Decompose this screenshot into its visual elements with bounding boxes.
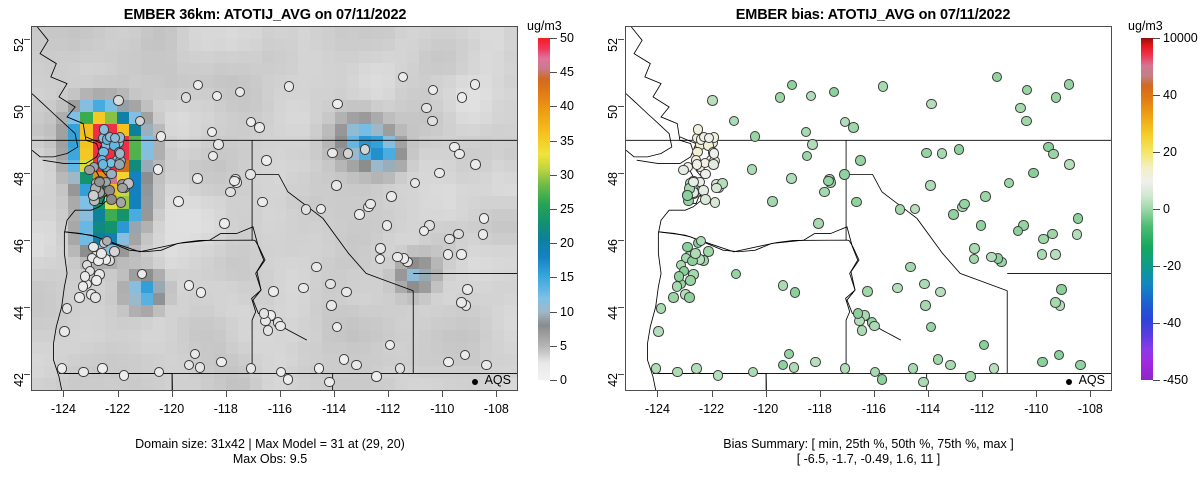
station-marker: [213, 139, 224, 150]
station-marker: [59, 326, 70, 337]
aqs-legend-label: AQS: [1079, 373, 1105, 387]
colorbar-tick-label: 45: [560, 65, 574, 79]
station-marker: [314, 363, 325, 374]
station-marker: [88, 190, 99, 201]
panel-model: EMBER 36km: ATOTIJ_AVG on 07/11/2022 AQS…: [0, 0, 600, 479]
raster-cell: [80, 390, 93, 391]
colorbar-tick: [550, 141, 557, 142]
x-axis-tick: [280, 391, 281, 397]
colorbar-tick: [1153, 152, 1160, 153]
station-marker: [829, 87, 840, 98]
station-marker: [908, 363, 919, 374]
station-marker: [691, 363, 702, 374]
station-marker: [117, 183, 128, 194]
station-marker: [78, 367, 89, 378]
colorbar-unit-model: ug/m3: [527, 19, 562, 33]
colorbar-tick-label: 30: [560, 168, 574, 182]
station-marker: [102, 236, 113, 247]
x-axis-tick: [820, 391, 821, 397]
station-marker: [878, 81, 889, 92]
map-plot-model[interactable]: AQS: [31, 26, 518, 391]
colorbar-tick: [1153, 323, 1160, 324]
station-marker: [708, 159, 719, 170]
x-axis-label: -114: [916, 402, 940, 416]
station-marker: [976, 220, 987, 231]
colorbar-tick: [1153, 95, 1160, 96]
station-marker: [933, 354, 944, 365]
raster-cell: [286, 390, 299, 391]
station-marker: [114, 159, 125, 170]
station-marker: [989, 363, 1000, 374]
station-marker: [116, 197, 127, 208]
station-marker: [325, 279, 336, 290]
station-marker: [443, 357, 454, 368]
station-marker: [1064, 159, 1075, 170]
raster-cell: [310, 390, 323, 391]
colorbar-tick-label: -450: [1163, 373, 1188, 387]
station-marker: [1047, 229, 1058, 240]
station-marker: [801, 127, 812, 138]
panel-title-model: EMBER 36km: ATOTIJ_AVG on 07/11/2022: [0, 7, 530, 23]
station-marker: [245, 169, 256, 180]
station-marker: [456, 297, 467, 308]
raster-cell: [298, 390, 311, 391]
station-marker: [311, 262, 322, 273]
station-marker: [920, 300, 931, 311]
station-marker: [434, 168, 445, 179]
caption-line-2: [ -6.5, -1.7, -0.49, 1.6, 11 ]: [625, 452, 1112, 467]
station-marker: [192, 173, 203, 184]
station-marker: [1037, 249, 1048, 260]
station-marker: [457, 92, 468, 103]
x-axis-tick: [982, 391, 983, 397]
station-marker: [784, 349, 795, 360]
station-marker: [257, 197, 268, 208]
aqs-dot-icon: [1066, 379, 1072, 385]
raster-cell: [153, 390, 166, 391]
station-marker: [283, 374, 294, 385]
station-marker: [786, 173, 797, 184]
y-axis-label: 44: [606, 306, 620, 324]
station-marker: [62, 303, 73, 314]
station-marker: [704, 133, 715, 144]
station-marker: [969, 254, 980, 265]
station-marker: [275, 321, 286, 332]
station-marker: [684, 292, 695, 303]
station-marker: [316, 204, 327, 215]
raster-cell: [516, 390, 518, 391]
x-axis-tick: [1090, 391, 1091, 397]
station-marker: [813, 218, 824, 229]
raster-cell: [262, 390, 275, 391]
station-marker: [980, 191, 991, 202]
raster-cell: [129, 390, 142, 391]
station-marker: [354, 209, 365, 220]
station-marker: [173, 196, 184, 207]
station-marker: [331, 180, 342, 191]
colorbar-unit-bias: ug/m3: [1128, 19, 1163, 33]
station-marker: [707, 95, 718, 106]
station-marker: [392, 252, 403, 263]
station-marker: [775, 92, 786, 103]
x-axis-tick: [172, 391, 173, 397]
raster-cell: [189, 390, 202, 391]
colorbar-tick: [550, 209, 557, 210]
station-marker: [1050, 297, 1061, 308]
colorbar-tick: [550, 277, 557, 278]
station-marker: [324, 377, 335, 388]
station-marker: [1054, 350, 1065, 361]
station-marker: [729, 116, 740, 127]
station-marker: [945, 360, 956, 371]
station-marker: [869, 321, 880, 332]
station-marker: [948, 209, 959, 220]
station-marker: [935, 287, 946, 298]
station-marker: [877, 374, 888, 385]
raster-cell: [335, 390, 348, 391]
y-axis-label: 46: [12, 239, 26, 257]
station-marker: [969, 243, 980, 254]
y-axis-label: 52: [12, 38, 26, 56]
station-marker: [78, 281, 89, 292]
raster-cell: [177, 390, 190, 391]
station-marker: [94, 177, 105, 188]
raster-cell: [419, 390, 432, 391]
station-marker: [184, 280, 195, 291]
station-marker: [1022, 85, 1033, 96]
station-marker: [750, 131, 761, 142]
x-axis-label: -110: [430, 402, 454, 416]
station-marker: [668, 292, 679, 303]
station-marker: [851, 197, 862, 208]
station-marker: [428, 85, 439, 96]
raster-cell: [347, 390, 360, 391]
station-marker: [190, 349, 201, 360]
panel-title-bias: EMBER bias: ATOTIJ_AVG on 07/11/2022: [608, 7, 1138, 23]
station-marker: [259, 308, 270, 319]
station-marker: [918, 377, 929, 388]
station-marker: [385, 340, 396, 351]
station-marker: [790, 287, 801, 298]
station-marker: [106, 194, 117, 205]
station-marker: [478, 229, 489, 240]
station-marker: [839, 169, 850, 180]
station-marker: [398, 72, 409, 83]
x-axis-tick: [874, 391, 875, 397]
station-marker: [937, 148, 948, 159]
station-marker: [926, 99, 937, 110]
station-marker: [154, 367, 165, 378]
station-marker: [959, 199, 970, 210]
x-axis-label: -110: [1024, 402, 1048, 416]
colorbar-tick-label: 0: [560, 373, 567, 387]
raster-cell: [407, 390, 420, 391]
station-markers-bias: [626, 27, 1111, 390]
x-axis-label: -108: [484, 402, 509, 416]
x-axis-label: -122: [105, 402, 130, 416]
station-marker: [656, 303, 667, 314]
station-marker: [84, 165, 95, 176]
x-axis-label: -122: [699, 402, 724, 416]
colorbar-tick: [550, 106, 557, 107]
x-axis-tick: [657, 391, 658, 397]
station-marker: [921, 148, 932, 159]
station-marker: [855, 155, 866, 166]
raster-cell: [141, 390, 154, 391]
raster-cell: [226, 390, 239, 391]
colorbar-tick: [550, 175, 557, 176]
colorbar-tick-label: 50: [560, 31, 574, 45]
raster-cell: [68, 390, 81, 391]
aqs-dot-icon: [472, 379, 478, 385]
colorbar-tick-label: 25: [560, 202, 574, 216]
station-marker: [1013, 226, 1024, 237]
station-marker: [326, 300, 337, 311]
station-marker: [375, 243, 386, 254]
station-marker: [778, 280, 789, 291]
station-marker: [462, 284, 473, 295]
station-marker: [862, 286, 873, 297]
station-marker: [1064, 79, 1075, 90]
x-axis-label: -124: [645, 402, 670, 416]
station-marker: [410, 178, 421, 189]
station-marker: [690, 248, 701, 259]
colorbar-tick: [1153, 209, 1160, 210]
station-marker: [196, 287, 207, 298]
station-marker: [382, 220, 393, 231]
station-marker: [1056, 284, 1067, 295]
station-marker: [992, 72, 1003, 83]
raster-cell: [117, 390, 130, 391]
colorbar-tick-label: -20: [1163, 259, 1181, 273]
colorbar-tick-label: 0: [1163, 202, 1170, 216]
raster-cell: [32, 390, 45, 391]
station-marker: [810, 357, 821, 368]
colorbar-tick-label: -40: [1163, 316, 1181, 330]
colorbar-tick: [550, 346, 557, 347]
raster-cell: [105, 390, 118, 391]
x-axis-label: -116: [268, 402, 292, 416]
colorbar-tick-label: 40: [560, 99, 574, 113]
x-axis-tick: [1036, 391, 1037, 397]
x-axis-label: -116: [862, 402, 886, 416]
station-marker: [767, 196, 778, 207]
station-marker: [700, 194, 711, 205]
colorbar-tick: [1153, 38, 1160, 39]
station-marker: [653, 326, 664, 337]
aqs-legend-model: AQS: [485, 373, 511, 387]
station-marker: [1050, 249, 1061, 260]
station-marker: [207, 127, 218, 138]
station-marker: [386, 191, 397, 202]
station-marker: [235, 87, 246, 98]
station-marker: [1073, 213, 1084, 224]
station-marker: [135, 116, 146, 127]
raster-cell: [456, 390, 469, 391]
colorbar-tick-label: 40: [1163, 88, 1177, 102]
x-axis-label: -112: [376, 402, 400, 416]
x-axis-label: -120: [753, 402, 778, 416]
station-marker: [470, 79, 481, 90]
station-marker: [919, 279, 930, 290]
station-marker: [823, 176, 834, 187]
station-marker: [91, 275, 102, 286]
station-marker: [195, 362, 206, 373]
station-marker: [263, 325, 274, 336]
station-marker: [80, 271, 91, 282]
colorbar-tick: [550, 380, 557, 381]
aqs-legend-label: AQS: [485, 373, 511, 387]
station-marker: [254, 122, 265, 133]
y-axis-label: 42: [606, 373, 620, 391]
y-axis-label: 52: [606, 38, 620, 56]
x-axis-label: -114: [322, 402, 346, 416]
station-marker: [339, 354, 350, 365]
station-marker: [954, 144, 965, 155]
station-marker: [672, 281, 683, 292]
station-marker: [685, 275, 696, 286]
station-marker: [284, 81, 295, 92]
station-marker: [115, 148, 126, 159]
station-marker: [696, 236, 707, 247]
station-marker: [710, 197, 721, 208]
colorbar-tick: [1153, 266, 1160, 267]
station-marker: [365, 199, 376, 210]
station-marker: [229, 176, 240, 187]
station-marker: [119, 370, 130, 381]
colorbar-tick: [550, 312, 557, 313]
colorbar-tick: [550, 243, 557, 244]
station-marker: [298, 283, 309, 294]
x-axis-tick: [334, 391, 335, 397]
station-marker: [481, 360, 492, 371]
station-marker: [332, 322, 343, 333]
station-marker: [208, 151, 219, 162]
x-axis-label: -112: [970, 402, 994, 416]
colorbar-tick-label: 20: [1163, 145, 1177, 159]
station-marker: [453, 229, 464, 240]
station-marker: [360, 144, 371, 155]
station-marker: [427, 116, 438, 127]
raster-cell: [238, 390, 251, 391]
station-marker: [137, 269, 148, 280]
station-marker: [688, 177, 699, 188]
station-marker: [225, 187, 236, 198]
panel-bias: EMBER bias: ATOTIJ_AVG on 07/11/2022 AQS…: [600, 0, 1200, 479]
station-marker: [456, 249, 467, 260]
station-marker: [1075, 360, 1086, 371]
x-axis-label: -124: [51, 402, 76, 416]
station-marker: [747, 164, 758, 175]
station-marker: [806, 91, 817, 102]
station-marker: [375, 254, 386, 265]
station-marker: [840, 363, 851, 374]
station-marker: [674, 271, 685, 282]
map-plot-bias[interactable]: AQS: [625, 26, 1112, 391]
station-marker: [460, 350, 471, 361]
x-axis-label: -118: [808, 402, 832, 416]
station-marker: [113, 95, 124, 106]
y-axis-label: 42: [12, 373, 26, 391]
colorbar-tick-label: 35: [560, 134, 574, 148]
station-marker: [748, 367, 759, 378]
station-marker: [96, 248, 107, 259]
station-marker: [1021, 116, 1032, 127]
station-marker: [1037, 357, 1048, 368]
x-axis-tick: [388, 391, 389, 397]
caption-bias: Bias Summary: [ min, 25th %, 50th %, 75t…: [625, 437, 1112, 467]
station-marker: [479, 213, 490, 224]
raster-cell: [395, 390, 408, 391]
station-marker: [807, 139, 818, 150]
raster-cell: [214, 390, 227, 391]
x-axis-tick: [712, 391, 713, 397]
station-marker: [156, 131, 167, 142]
station-markers-model: [32, 27, 517, 390]
station-marker: [979, 340, 990, 351]
station-marker: [1048, 149, 1059, 160]
station-marker: [905, 262, 916, 273]
station-marker: [216, 357, 227, 368]
station-marker: [709, 148, 720, 159]
station-marker: [98, 159, 109, 170]
x-axis-tick: [226, 391, 227, 397]
colorbar-tick-label: 10000: [1163, 31, 1198, 45]
x-axis-tick: [118, 391, 119, 397]
station-marker: [986, 252, 997, 263]
y-axis-label: 50: [12, 105, 26, 123]
station-marker: [261, 155, 272, 166]
raster-cell: [443, 390, 456, 391]
station-marker: [268, 286, 279, 297]
station-marker: [778, 360, 789, 371]
station-marker: [965, 371, 976, 382]
station-marker: [926, 322, 937, 333]
station-marker: [57, 363, 68, 374]
x-axis-tick: [63, 391, 64, 397]
station-marker: [789, 362, 800, 373]
station-marker: [1051, 92, 1062, 103]
y-axis-label: 48: [606, 172, 620, 190]
station-marker: [470, 159, 481, 170]
station-marker: [181, 92, 192, 103]
raster-cell: [383, 390, 396, 391]
colorbar-tick-label: 15: [560, 270, 574, 284]
station-marker: [1004, 178, 1015, 189]
station-marker: [341, 287, 352, 298]
caption-line-1: Bias Summary: [ min, 25th %, 50th %, 75t…: [625, 437, 1112, 452]
station-marker: [1028, 168, 1039, 179]
station-marker: [110, 133, 121, 144]
colorbar-tick-label: 20: [560, 236, 574, 250]
station-marker: [395, 363, 406, 374]
station-marker: [97, 363, 108, 374]
station-marker: [343, 148, 354, 159]
station-marker: [301, 204, 312, 215]
raster-cell: [359, 390, 372, 391]
colorbar-strip-bias: [1141, 38, 1153, 380]
raster-cell: [44, 390, 57, 391]
x-axis-tick: [442, 391, 443, 397]
station-marker: [193, 80, 204, 91]
station-marker: [910, 204, 921, 215]
station-marker: [351, 360, 362, 371]
colorbar-strip-model: [538, 38, 550, 380]
raster-cell: [250, 390, 263, 391]
station-marker: [219, 218, 230, 229]
aqs-legend-bias: AQS: [1079, 373, 1105, 387]
raster-cell: [504, 390, 517, 391]
